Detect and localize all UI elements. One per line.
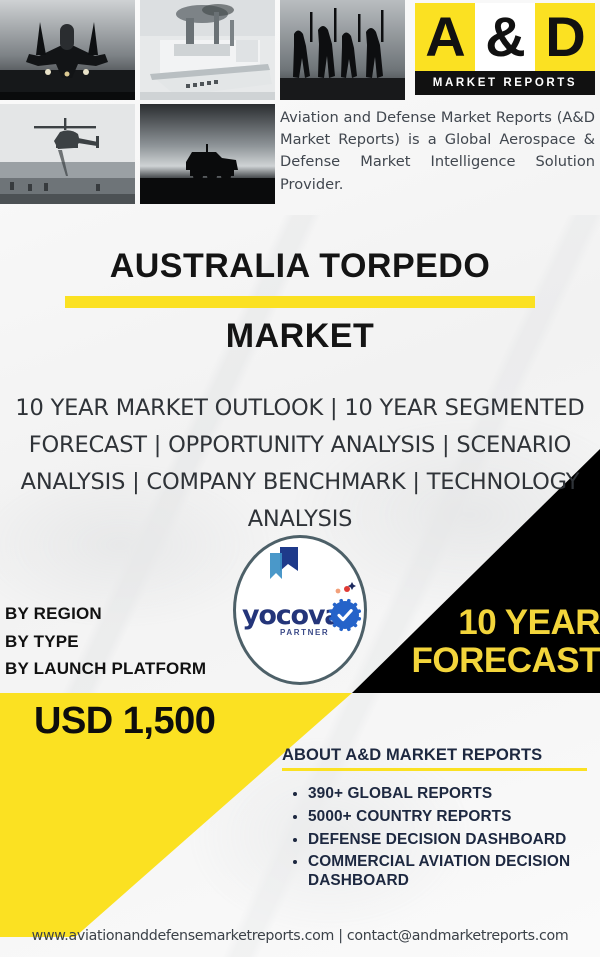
logo-letter-a: A — [415, 3, 475, 71]
title-line-2: MARKET — [0, 318, 600, 355]
about-bullet-item: 5000+ COUNTRY REPORTS — [308, 808, 592, 827]
helicopter-photo — [0, 104, 135, 204]
logo-letter-d: D — [535, 3, 595, 71]
about-bullet-list: 390+ GLOBAL REPORTS 5000+ COUNTRY REPORT… — [282, 785, 592, 891]
yocova-flag-icon — [266, 547, 308, 591]
price-label: USD 1,500 — [34, 700, 215, 743]
forecast-line-2: FORECAST — [410, 643, 600, 679]
forecast-line-1: 10 YEAR — [410, 605, 600, 641]
badge-circle: yocova PARTNER — [233, 535, 367, 685]
logo-ampersand: & — [475, 3, 535, 71]
about-bullet-item: DEFENSE DECISION DASHBOARD — [308, 831, 592, 850]
yocova-verified-check-icon — [328, 598, 362, 632]
ad-market-reports-logo: A & D MARKET REPORTS — [415, 3, 595, 95]
segmentation-list: BY REGION BY TYPE BY LAUNCH PLATFORM — [5, 600, 206, 683]
about-heading-underline — [282, 768, 587, 771]
logo-letters: A & D — [415, 3, 595, 71]
company-intro-paragraph: Aviation and Defense Market Reports (A&D… — [280, 107, 595, 196]
logo-tagline: MARKET REPORTS — [415, 71, 595, 95]
yocova-partner-label: PARTNER — [280, 628, 329, 637]
about-bullet-item: COMMERCIAL AVIATION DECISION DASHBOARD — [308, 853, 592, 891]
page-title: AUSTRALIA TORPEDO MARKET — [0, 248, 600, 356]
about-bullet-item: 390+ GLOBAL REPORTS — [308, 785, 592, 804]
forecast-callout: 10 YEAR FORECAST — [410, 605, 600, 678]
about-heading: ABOUT A&D MARKET REPORTS — [282, 746, 592, 765]
poster-page: A & D MARKET REPORTS Aviation and Defens… — [0, 0, 600, 957]
footer-contact: www.aviationanddefensemarketreports.com … — [0, 928, 600, 944]
about-section: ABOUT A&D MARKET REPORTS 390+ GLOBAL REP… — [282, 746, 592, 895]
title-line-1: AUSTRALIA TORPEDO — [0, 248, 600, 285]
warship-photo — [140, 0, 275, 100]
segment-item: BY TYPE — [5, 628, 206, 656]
armored-vehicle-photo — [140, 104, 275, 204]
yocova-sparkle-icon — [332, 580, 358, 598]
fighter-jet-photo — [0, 0, 135, 100]
segment-item: BY LAUNCH PLATFORM — [5, 655, 206, 683]
segment-item: BY REGION — [5, 600, 206, 628]
yocova-partner-badge: yocova PARTNER — [233, 535, 367, 685]
soldiers-silhouette-photo — [280, 0, 405, 100]
title-underline — [65, 296, 535, 308]
report-features-subtitle: 10 YEAR MARKET OUTLOOK | 10 YEAR SEGMENT… — [10, 390, 590, 539]
